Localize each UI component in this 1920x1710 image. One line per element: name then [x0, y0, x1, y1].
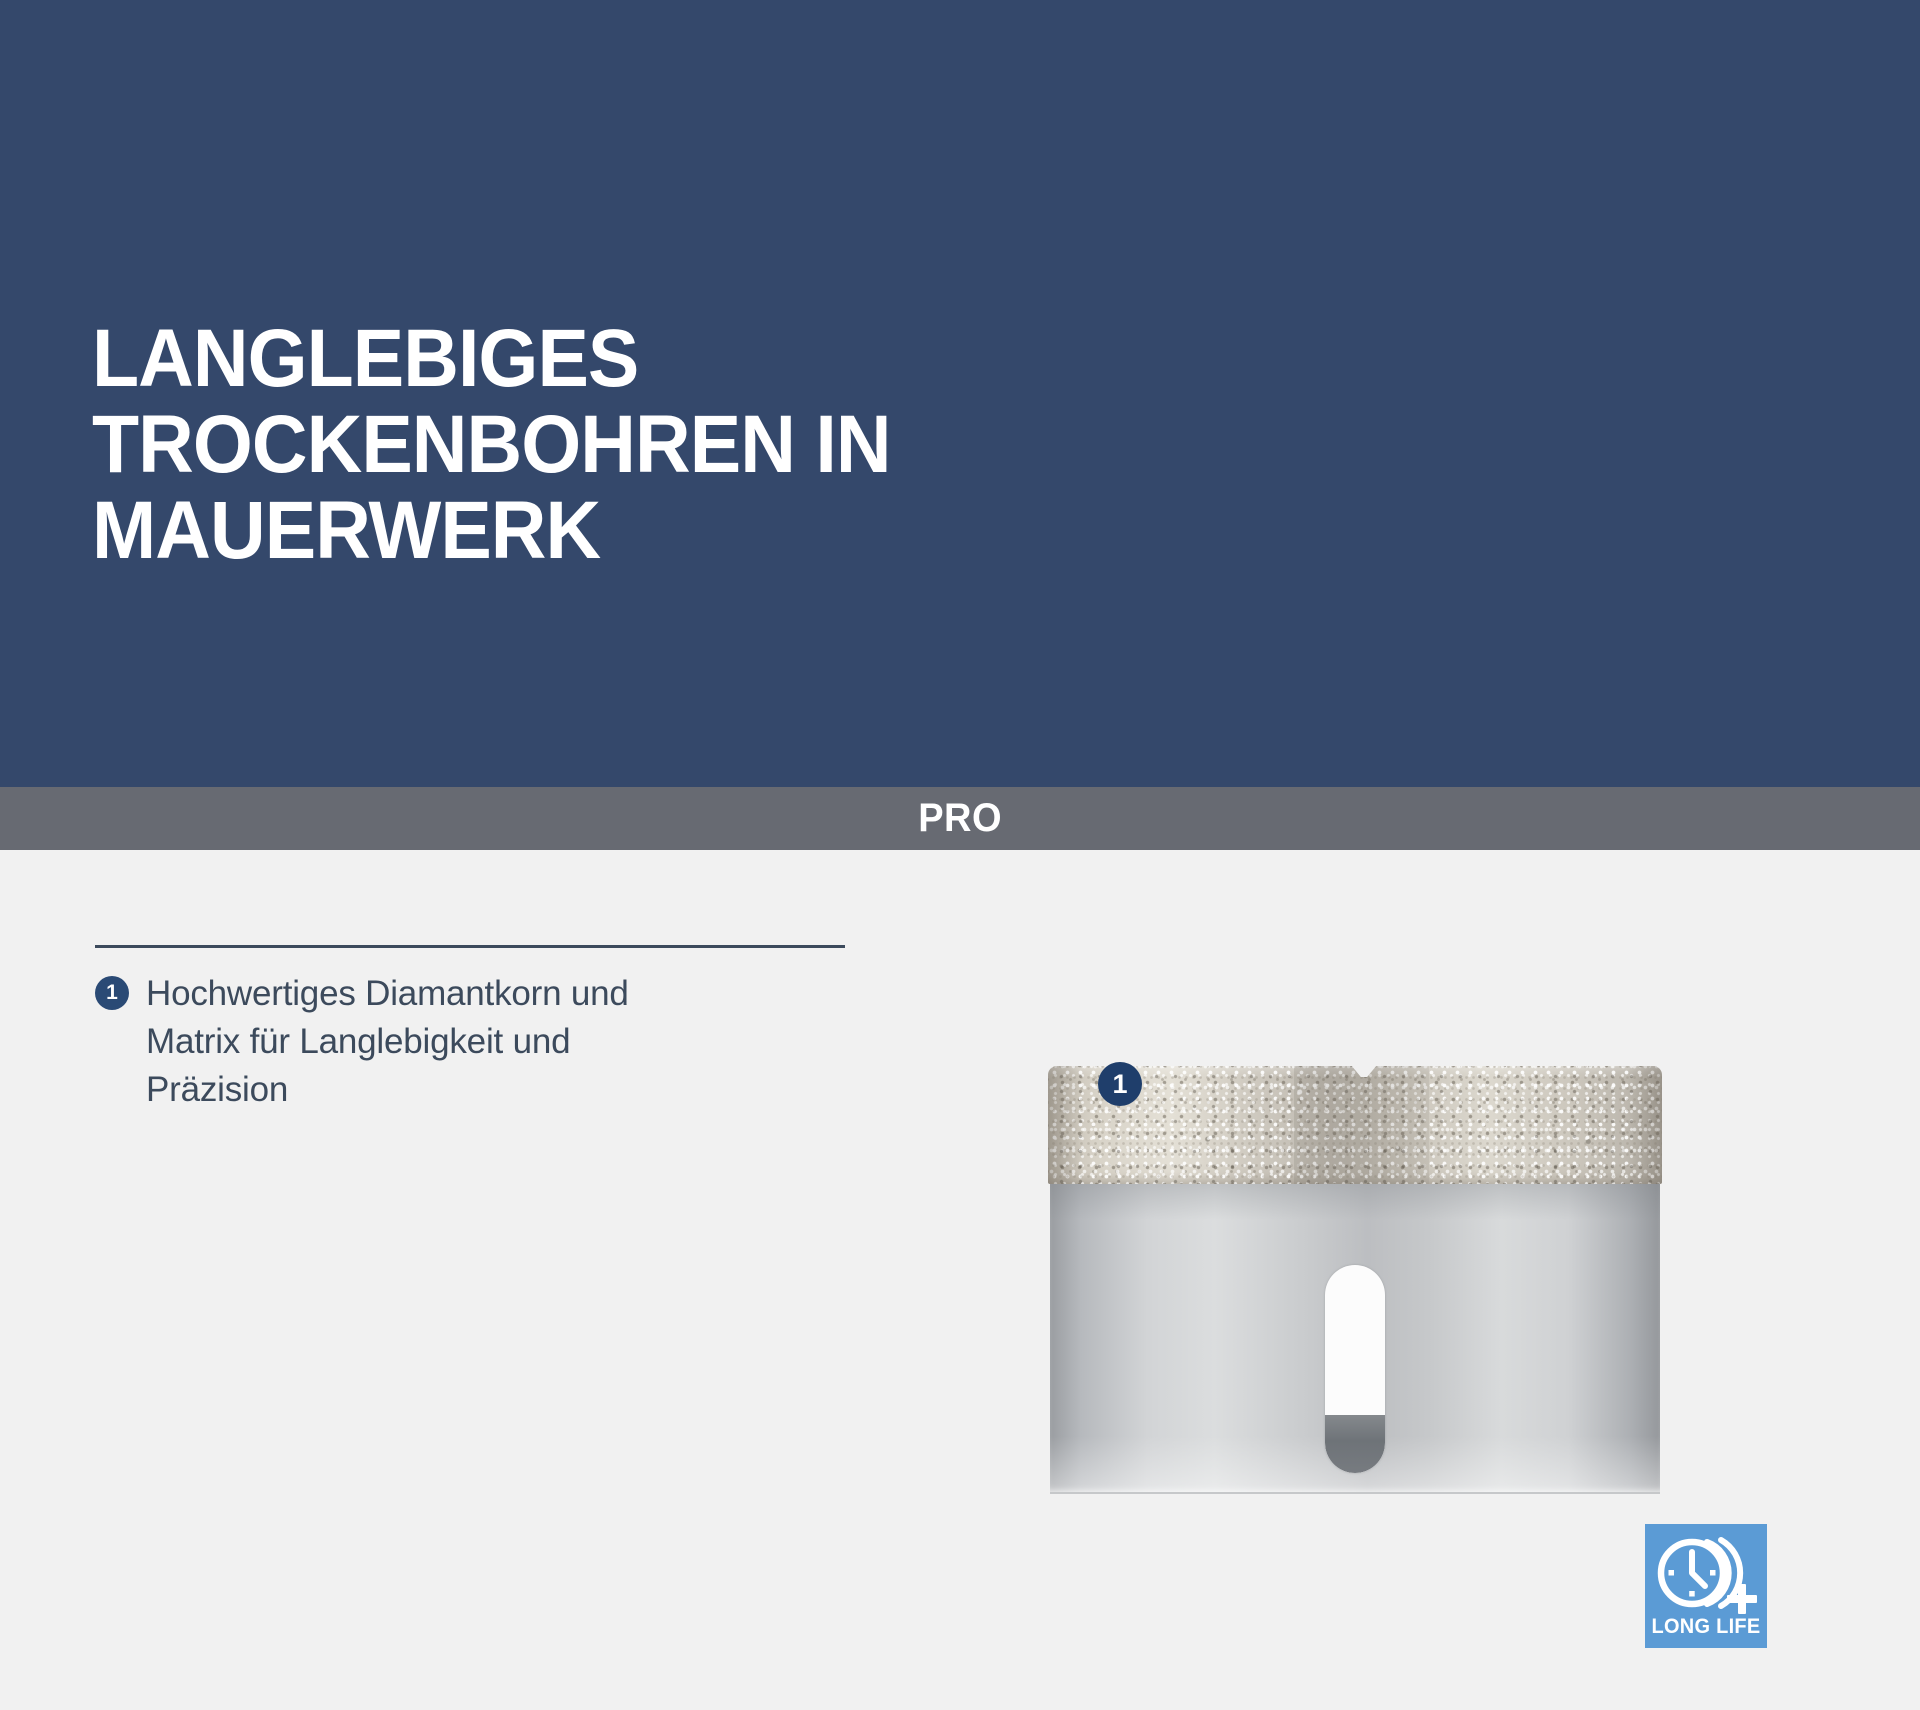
- slot-floor-shadow: [1325, 1415, 1385, 1473]
- product-callout-badge-1: 1: [1098, 1062, 1142, 1106]
- feature-list: 1 Hochwertiges Diamantkorn und Matrix fü…: [95, 945, 855, 1114]
- long-life-label: LONG LIFE: [1648, 1615, 1764, 1639]
- product-tier-bar: PRO: [0, 787, 1920, 850]
- crown-right-edge-shading: [1628, 1066, 1662, 1184]
- hero-banner: LANGLEBIGES TROCKENBOHREN IN MAUERWERK: [0, 0, 1920, 787]
- clock-icon: [1661, 1542, 1723, 1604]
- page-title: LANGLEBIGES TROCKENBOHREN IN MAUERWERK: [92, 316, 1408, 574]
- long-life-badge: LONG LIFE: [1645, 1524, 1767, 1648]
- product-feature-panel: LANGLEBIGES TROCKENBOHREN IN MAUERWERK P…: [0, 0, 1920, 1710]
- long-life-icon-group: [1645, 1524, 1767, 1624]
- plus-icon: [1727, 1584, 1757, 1614]
- product-tier-label: PRO: [918, 796, 1002, 841]
- feature-description: Hochwertiges Diamantkorn und Matrix für …: [146, 970, 629, 1114]
- product-image-drill-bit: 1: [1048, 1060, 1662, 1496]
- drill-bit-slot: [1325, 1265, 1385, 1473]
- body-top-shading: [1050, 1180, 1660, 1220]
- list-item: 1 Hochwertiges Diamantkorn und Matrix fü…: [95, 970, 855, 1114]
- crown-mid-shading: [1294, 1066, 1429, 1184]
- feature-divider: [95, 945, 845, 948]
- feature-number-badge: 1: [95, 976, 129, 1010]
- crown-left-edge-shading: [1048, 1066, 1082, 1184]
